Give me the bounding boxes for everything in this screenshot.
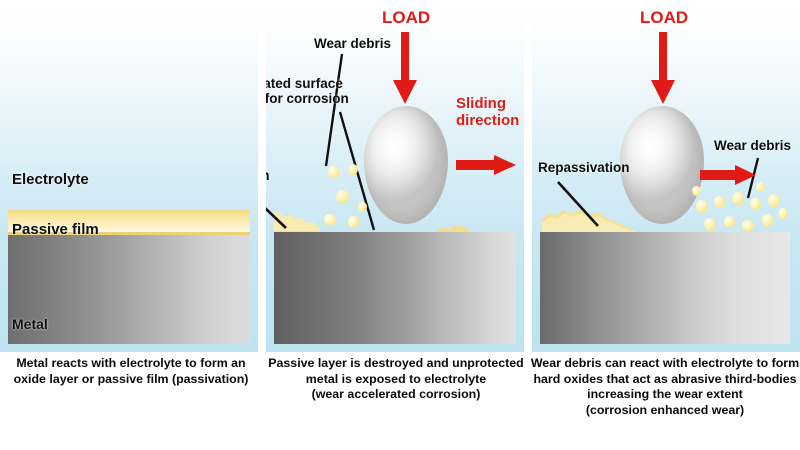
label-load-3: LOAD	[640, 8, 688, 27]
debris-particle	[324, 214, 336, 226]
debris-particle	[704, 218, 716, 231]
caption-panel-3: Wear debris can react with electrolyte t…	[530, 356, 800, 419]
panel-passivation: Electrolyte Passive film Metal	[0, 0, 258, 352]
label-metal: Metal	[12, 317, 48, 333]
label-repassivation-3: Repassivation	[538, 160, 630, 175]
tribocorrosion-diagram: Electrolyte Passive film Metal LOAD Slid…	[0, 0, 800, 450]
label-electrolyte: Electrolyte	[12, 172, 89, 189]
metal-substrate-2	[274, 232, 516, 344]
debris-particle	[692, 186, 701, 196]
debris-particle	[750, 198, 761, 210]
caption-panel-1: Metal reacts with electrolyte to form an…	[2, 356, 260, 387]
sliding-direction-arrow	[456, 152, 518, 178]
load-arrow-down-3	[648, 32, 678, 106]
leader-line-depassivated-surface	[340, 112, 380, 230]
metal-substrate-3	[540, 232, 790, 344]
label-repassivation-2: Repassivation	[266, 168, 270, 183]
leader-line-repassivation-3	[558, 182, 604, 228]
label-passive-film: Passive film	[12, 222, 99, 239]
label-wear-debris-3: Wear debris	[714, 138, 791, 153]
leader-line-repassivation-2	[266, 188, 290, 230]
debris-particle	[328, 166, 339, 178]
debris-particle	[696, 200, 708, 213]
label-wear-debris-2: Wear debris	[314, 36, 391, 51]
debris-particle	[714, 196, 725, 208]
slider-ball-3	[620, 106, 704, 224]
film-smear-2	[436, 222, 472, 232]
debris-particle	[762, 214, 773, 227]
debris-particle	[778, 208, 788, 219]
caption-panel-2: Passive layer is destroyed and unprotect…	[266, 356, 526, 403]
panel-corrosion-enhanced-wear: LOAD Wear debris Repassivation	[532, 0, 800, 352]
panel-wear-accelerated-corrosion: LOAD Sliding direction Wear debris Depas…	[266, 0, 524, 352]
label-load-2: LOAD	[382, 8, 430, 27]
debris-ejection-arrow-3	[700, 162, 758, 188]
debris-particle	[724, 216, 735, 228]
debris-particle	[732, 192, 744, 205]
label-depassivated-surface: Depassivated surface available for corro…	[266, 76, 404, 106]
debris-particle	[742, 220, 754, 232]
label-sliding-direction: Sliding direction	[456, 96, 519, 130]
debris-particle	[768, 194, 780, 207]
